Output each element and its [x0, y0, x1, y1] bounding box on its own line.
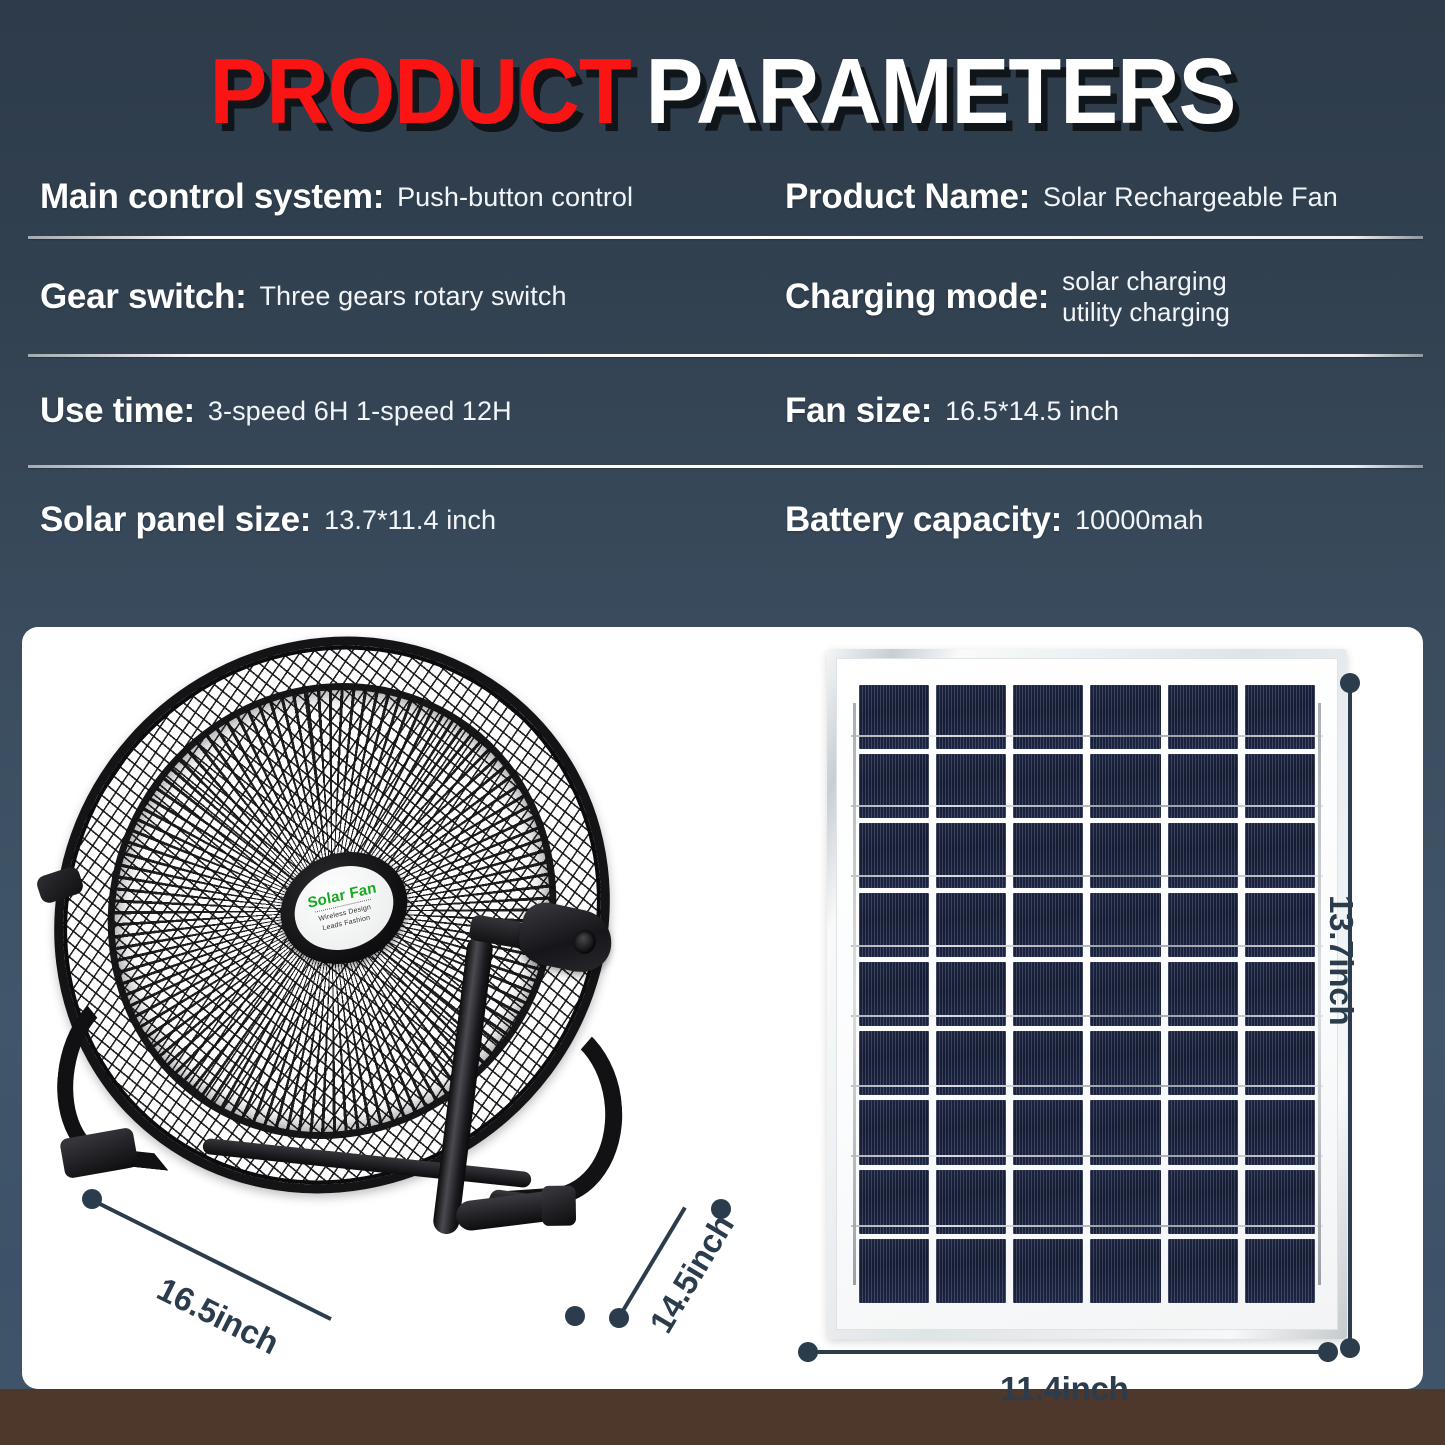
spec-label: Fan size: [785, 391, 932, 431]
solar-cell [1013, 823, 1083, 887]
spec-label: Main control system: [40, 177, 384, 217]
solar-cell [1168, 1239, 1238, 1303]
solar-busbar [851, 735, 1323, 737]
dimension-endpoint-dot [565, 1306, 585, 1326]
spec-label: Gear switch: [40, 277, 246, 317]
solar-cell [1168, 754, 1238, 818]
page-title: PRODUCTPARAMETERS [0, 36, 1445, 146]
solar-busbar [851, 1155, 1323, 1157]
spec-row: Solar panel size: 13.7*11.4 inch Battery… [0, 468, 1445, 572]
solar-cell [1168, 685, 1238, 749]
solar-busbar [851, 1015, 1323, 1017]
spec-value: 16.5*14.5 inch [945, 396, 1119, 427]
infographic-page: PRODUCTPARAMETERS Main control system: P… [0, 0, 1445, 1445]
solar-cell [936, 685, 1006, 749]
solar-cell [936, 893, 1006, 957]
spec-cell-battery-capacity: Battery capacity: 10000mah [757, 468, 1445, 572]
spec-cell-use-time: Use time: 3-speed 6H 1-speed 12H [0, 357, 757, 465]
solar-cell [859, 1239, 929, 1303]
spec-label: Product Name: [785, 177, 1030, 217]
spec-value: solar charging utility charging [1062, 266, 1230, 327]
solar-cell [1245, 823, 1315, 887]
solar-cell-column [1013, 685, 1083, 1303]
spec-cell-gear-switch: Gear switch: Three gears rotary switch [0, 239, 757, 354]
solar-cell [1013, 685, 1083, 749]
solar-cell [1090, 685, 1160, 749]
solar-busbar [851, 1085, 1323, 1087]
spec-value: Three gears rotary switch [259, 281, 566, 312]
spec-label: Battery capacity: [785, 500, 1062, 540]
solar-cell [859, 893, 929, 957]
solar-cell [1013, 754, 1083, 818]
spec-cell-main-control-system: Main control system: Push-button control [0, 158, 757, 236]
dimension-endpoint-dot [82, 1189, 102, 1209]
spec-row: Main control system: Push-button control… [0, 158, 1445, 236]
spec-cell-fan-size: Fan size: 16.5*14.5 inch [757, 357, 1445, 465]
spec-row: Gear switch: Three gears rotary switch C… [0, 239, 1445, 354]
fan-foot-right [455, 1188, 578, 1232]
spec-value: Solar Rechargeable Fan [1043, 182, 1338, 213]
spec-cell-charging-mode: Charging mode: solar charging utility ch… [757, 239, 1445, 354]
solar-cell [1245, 685, 1315, 749]
solar-cell [1168, 823, 1238, 887]
solar-cell [936, 1239, 1006, 1303]
spec-row: Use time: 3-speed 6H 1-speed 12H Fan siz… [0, 357, 1445, 465]
dimension-endpoint-dot [1340, 1338, 1360, 1358]
fan-hub-label: Solar Fan Wireless Design Leads Fashion [289, 856, 400, 959]
solar-busbar [851, 875, 1323, 877]
spec-value: 3-speed 6H 1-speed 12H [208, 396, 512, 427]
product-image-card: Solar Fan Wireless Design Leads Fashion [22, 627, 1423, 1389]
solar-cell [859, 823, 929, 887]
solar-cell [1168, 893, 1238, 957]
fan-unit: Solar Fan Wireless Design Leads Fashion [52, 635, 672, 1235]
solar-cell-column [1090, 685, 1160, 1303]
solar-cell [1245, 893, 1315, 957]
spec-label: Solar panel size: [40, 500, 311, 540]
solar-cell [859, 685, 929, 749]
dimension-label-panel-height: 13.7inch [1322, 895, 1360, 1025]
dimension-endpoint-dot [1318, 1342, 1338, 1362]
solar-cell [1090, 893, 1160, 957]
dimension-endpoint-dot [1340, 673, 1360, 693]
solar-cell-column [936, 685, 1006, 1303]
spec-label: Charging mode: [785, 277, 1049, 317]
solar-cell-column [1168, 685, 1238, 1303]
title-word-rest: PARAMETERS [646, 39, 1236, 143]
solar-cell [859, 754, 929, 818]
solar-busbar [851, 805, 1323, 807]
spec-table: Main control system: Push-button control… [0, 158, 1445, 572]
solar-cell [1013, 893, 1083, 957]
solar-collector-wire [853, 703, 856, 1285]
solar-cell [936, 823, 1006, 887]
dimension-label-panel-width: 11.4inch [1000, 1370, 1129, 1408]
dimension-endpoint-dot [609, 1308, 629, 1328]
solar-cell [1013, 1239, 1083, 1303]
spec-cell-product-name: Product Name: Solar Rechargeable Fan [757, 158, 1445, 236]
spec-cell-solar-panel-size: Solar panel size: 13.7*11.4 inch [0, 468, 757, 572]
solar-panel-glass [836, 658, 1338, 1330]
dimension-endpoint-dot [798, 1342, 818, 1362]
fan-product-photo: Solar Fan Wireless Design Leads Fashion [22, 627, 762, 1389]
solar-cell [1245, 754, 1315, 818]
solar-cell [1090, 823, 1160, 887]
spec-label: Use time: [40, 391, 195, 431]
spec-value-line-2: utility charging [1062, 297, 1230, 327]
solar-panel-frame [827, 649, 1347, 1339]
title-word-highlight: PRODUCT [210, 39, 631, 143]
solar-cell [936, 754, 1006, 818]
spec-value-line-1: solar charging [1062, 266, 1227, 296]
bottom-strip [0, 1389, 1445, 1445]
solar-busbar [851, 1225, 1323, 1227]
solar-collector-wire [1318, 703, 1321, 1285]
solar-busbar [851, 945, 1323, 947]
spec-value: 13.7*11.4 inch [324, 505, 496, 536]
dimension-line-panel-width [810, 1350, 1330, 1354]
spec-value: Push-button control [397, 182, 633, 213]
solar-cell-column [859, 685, 929, 1303]
solar-cell [1245, 1239, 1315, 1303]
solar-cell-column [1245, 685, 1315, 1303]
spec-value: 10000mah [1075, 505, 1203, 536]
solar-cell [1090, 754, 1160, 818]
fan-stand-hoop [466, 1010, 629, 1210]
solar-cell [1090, 1239, 1160, 1303]
